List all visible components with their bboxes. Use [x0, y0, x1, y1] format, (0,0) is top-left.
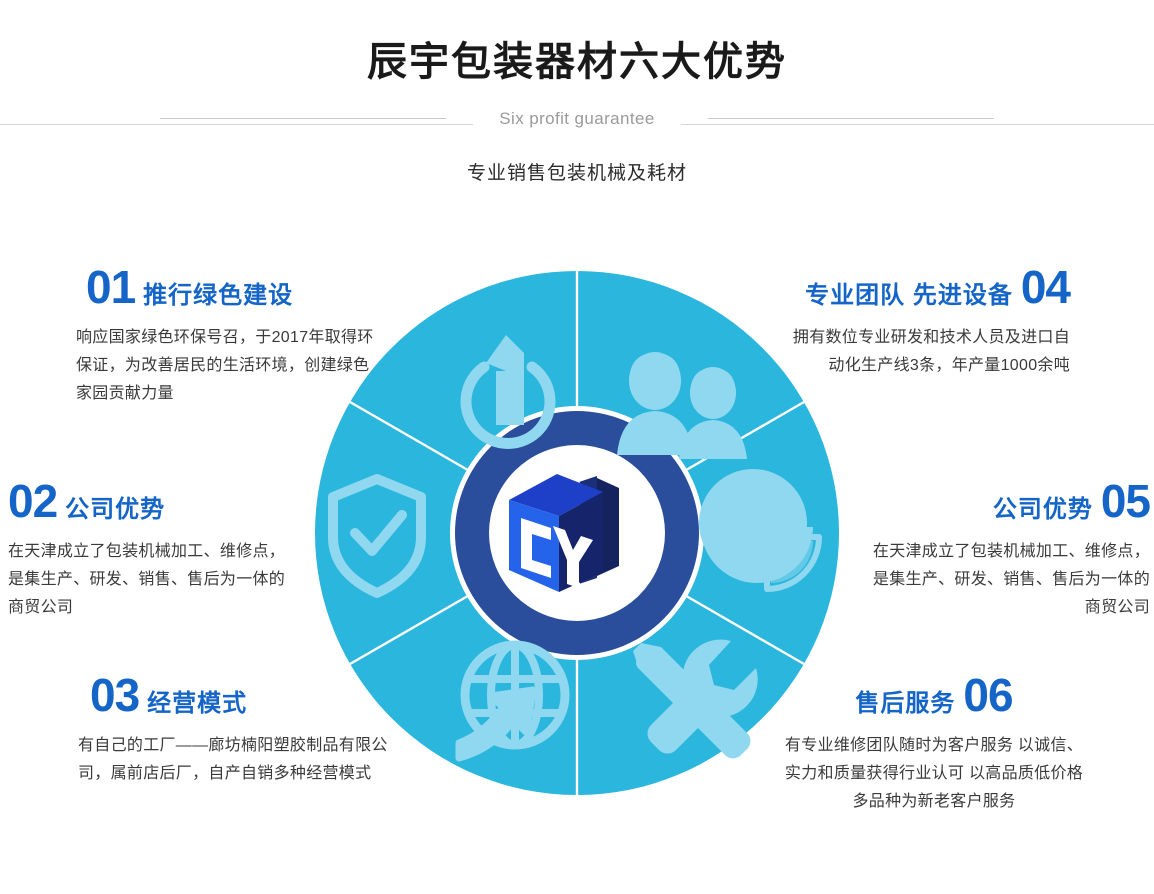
feature-name-04: 专业团队 先进设备 [805, 284, 1013, 308]
feature-item-03: 03 经营模式 有自己的工厂——廊坊楠阳塑胶制品有限公司，属前店后厂，自产自销多… [78, 672, 388, 788]
feature-desc-04: 拥有数位专业研发和技术人员及进口自动化生产线3条，年产量1000余吨 [778, 324, 1070, 380]
infographic-canvas: 辰宇包装器材六大优势 Six profit guarantee 专业销售包装机械… [0, 0, 1154, 894]
feature-number-05: 05 [1101, 478, 1150, 524]
feature-item-04: 专业团队 先进设备 04 拥有数位专业研发和技术人员及进口自动化生产线3条，年产… [778, 264, 1070, 380]
header-divider: Six profit guarantee [0, 105, 1154, 145]
feature-name-03: 经营模式 [147, 692, 247, 716]
feature-head-03: 03 经营模式 [78, 672, 388, 718]
center-logo [501, 466, 633, 594]
divider-label-wrap: Six profit guarantee [0, 105, 1154, 133]
feature-desc-06: 有专业维修团队随时为客户服务 以诚信、实力和质量获得行业认可 以高品质低价格多品… [778, 732, 1090, 816]
feature-item-02: 02 公司优势 在天津成立了包装机械加工、维修点，是集生产、研发、销售、售后为一… [8, 478, 298, 622]
feature-head-05: 公司优势 05 [860, 478, 1150, 524]
feature-number-04: 04 [1021, 264, 1070, 310]
feature-name-01: 推行绿色建设 [143, 284, 293, 308]
feature-name-06: 售后服务 [855, 692, 955, 716]
feature-number-02: 02 [8, 478, 57, 524]
feature-head-02: 02 公司优势 [8, 478, 298, 524]
divider-label: Six profit guarantee [473, 105, 680, 133]
feature-head-04: 专业团队 先进设备 04 [778, 264, 1070, 310]
page-title: 辰宇包装器材六大优势 [0, 36, 1154, 88]
feature-head-01: 01 推行绿色建设 [76, 264, 376, 310]
feature-item-01: 01 推行绿色建设 响应国家绿色环保号召，于2017年取得环保证，为改善居民的生… [76, 264, 376, 408]
feature-desc-03: 有自己的工厂——廊坊楠阳塑胶制品有限公司，属前店后厂，自产自销多种经营模式 [78, 732, 388, 788]
page-subtitle: 专业销售包装机械及耗材 [0, 158, 1154, 185]
feature-item-06: 售后服务 06 有专业维修团队随时为客户服务 以诚信、实力和质量获得行业认可 以… [778, 672, 1090, 816]
feature-number-01: 01 [86, 264, 135, 310]
feature-number-03: 03 [90, 672, 139, 718]
feature-item-05: 公司优势 05 在天津成立了包装机械加工、维修点，是集生产、研发、销售、售后为一… [860, 478, 1150, 622]
feature-desc-02: 在天津成立了包装机械加工、维修点，是集生产、研发、销售、售后为一体的商贸公司 [8, 538, 298, 622]
feature-name-02: 公司优势 [65, 498, 165, 522]
feature-desc-01: 响应国家绿色环保号召，于2017年取得环保证，为改善居民的生活环境，创建绿色家园… [76, 324, 376, 408]
feature-name-05: 公司优势 [993, 498, 1093, 522]
feature-desc-05: 在天津成立了包装机械加工、维修点，是集生产、研发、销售、售后为一体的商贸公司 [860, 538, 1150, 622]
feature-number-06: 06 [963, 672, 1012, 718]
feature-head-06: 售后服务 06 [778, 672, 1090, 718]
